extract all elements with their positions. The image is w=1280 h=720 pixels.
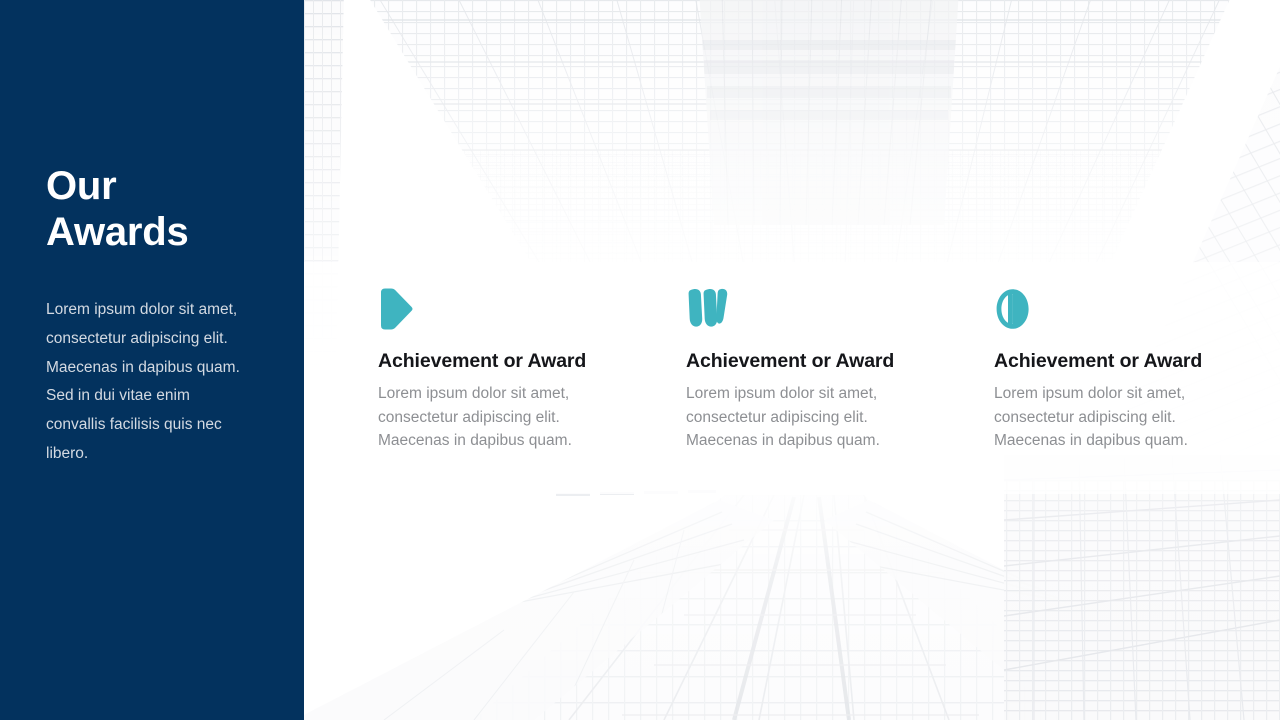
award-body: Lorem ipsum dolor sit amet, consectetur … [378,382,604,453]
award-body: Lorem ipsum dolor sit amet, consectetur … [686,382,912,453]
award-column-3: Achievement or Award Lorem ipsum dolor s… [994,288,1258,498]
w-letter-icon [686,288,994,334]
award-title: Achievement or Award [378,350,686,373]
page-title-line-1: Our [46,163,286,209]
split-circle-icon [994,288,1258,334]
page-title: Our Awards [46,163,286,255]
play-triangle-icon [378,288,686,334]
page-title-line-2: Awards [46,209,286,255]
left-navy-panel: Our Awards Lorem ipsum dolor sit amet, c… [0,0,304,720]
presentation-slide: Our Awards Lorem ipsum dolor sit amet, c… [0,0,1280,720]
award-body: Lorem ipsum dolor sit amet, consectetur … [994,382,1220,453]
sidebar-body-text: Lorem ipsum dolor sit amet, consectetur … [46,296,246,469]
award-title: Achievement or Award [686,350,994,373]
award-column-2: Achievement or Award Lorem ipsum dolor s… [686,288,994,498]
award-column-1: Achievement or Award Lorem ipsum dolor s… [378,288,686,498]
award-title: Achievement or Award [994,350,1258,373]
awards-columns: Achievement or Award Lorem ipsum dolor s… [378,288,1258,498]
